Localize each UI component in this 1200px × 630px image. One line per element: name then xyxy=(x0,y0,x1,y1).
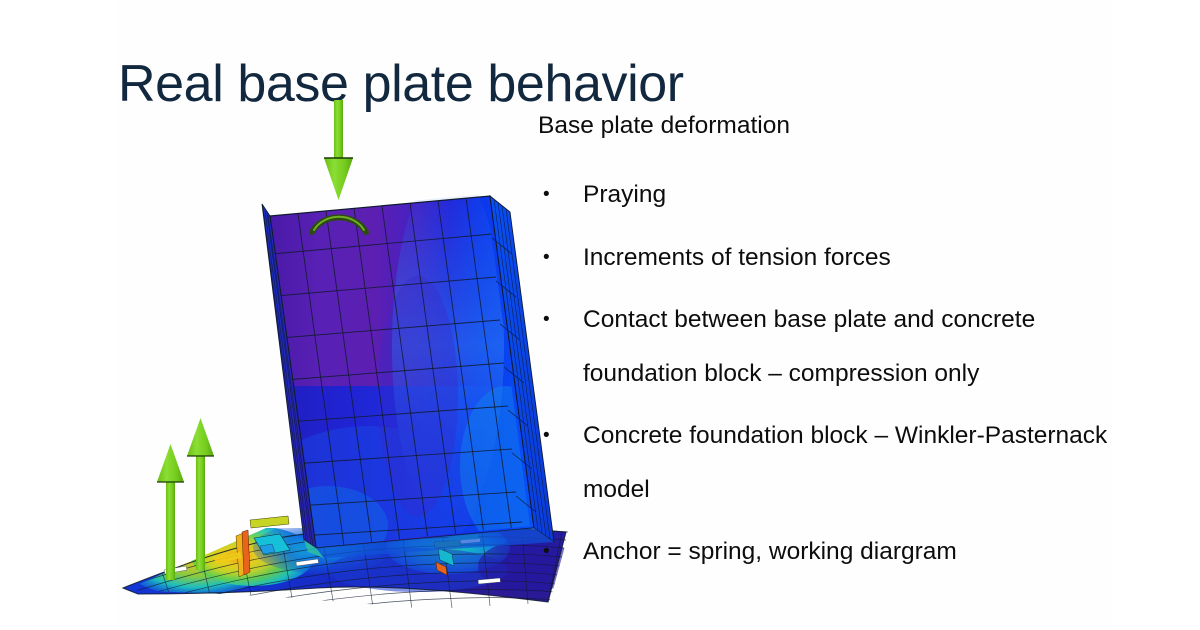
body-column: Base plate deformation • Praying • Incre… xyxy=(538,104,1110,588)
list-item-label: Contact between base plate and concrete … xyxy=(583,293,1110,400)
fea-figure xyxy=(118,96,588,624)
axial-load-arrow-icon xyxy=(324,100,353,200)
slide-root: Real base plate behavior xyxy=(0,0,1200,630)
list-item-label: Praying xyxy=(583,168,1110,222)
list-item: • Contact between base plate and concret… xyxy=(538,293,1110,400)
bullet-list: • Praying • Increments of tension forces… xyxy=(538,168,1110,579)
bullet-dot-icon: • xyxy=(543,168,557,222)
fea-contour-plot xyxy=(118,96,588,624)
bullet-dot-icon: • xyxy=(543,231,557,285)
bullet-dot-icon: • xyxy=(543,409,557,463)
bullet-dot-icon: • xyxy=(543,293,557,347)
tension-arrow-short-icon xyxy=(157,444,184,580)
list-item: • Increments of tension forces xyxy=(538,231,1110,285)
list-item-label: Increments of tension forces xyxy=(583,231,1110,285)
list-item: • Anchor = spring, working diargram xyxy=(538,525,1110,579)
list-item-label: Concrete foundation block – Winkler-Past… xyxy=(583,409,1110,516)
tension-arrow-tall-icon xyxy=(187,418,214,570)
bullet-dot-icon: • xyxy=(543,525,557,579)
list-item-label: Anchor = spring, working diargram xyxy=(583,525,1110,579)
body-lead-text: Base plate deformation xyxy=(538,104,1110,148)
list-item: • Concrete foundation block – Winkler-Pa… xyxy=(538,409,1110,516)
list-item: • Praying xyxy=(538,168,1110,222)
